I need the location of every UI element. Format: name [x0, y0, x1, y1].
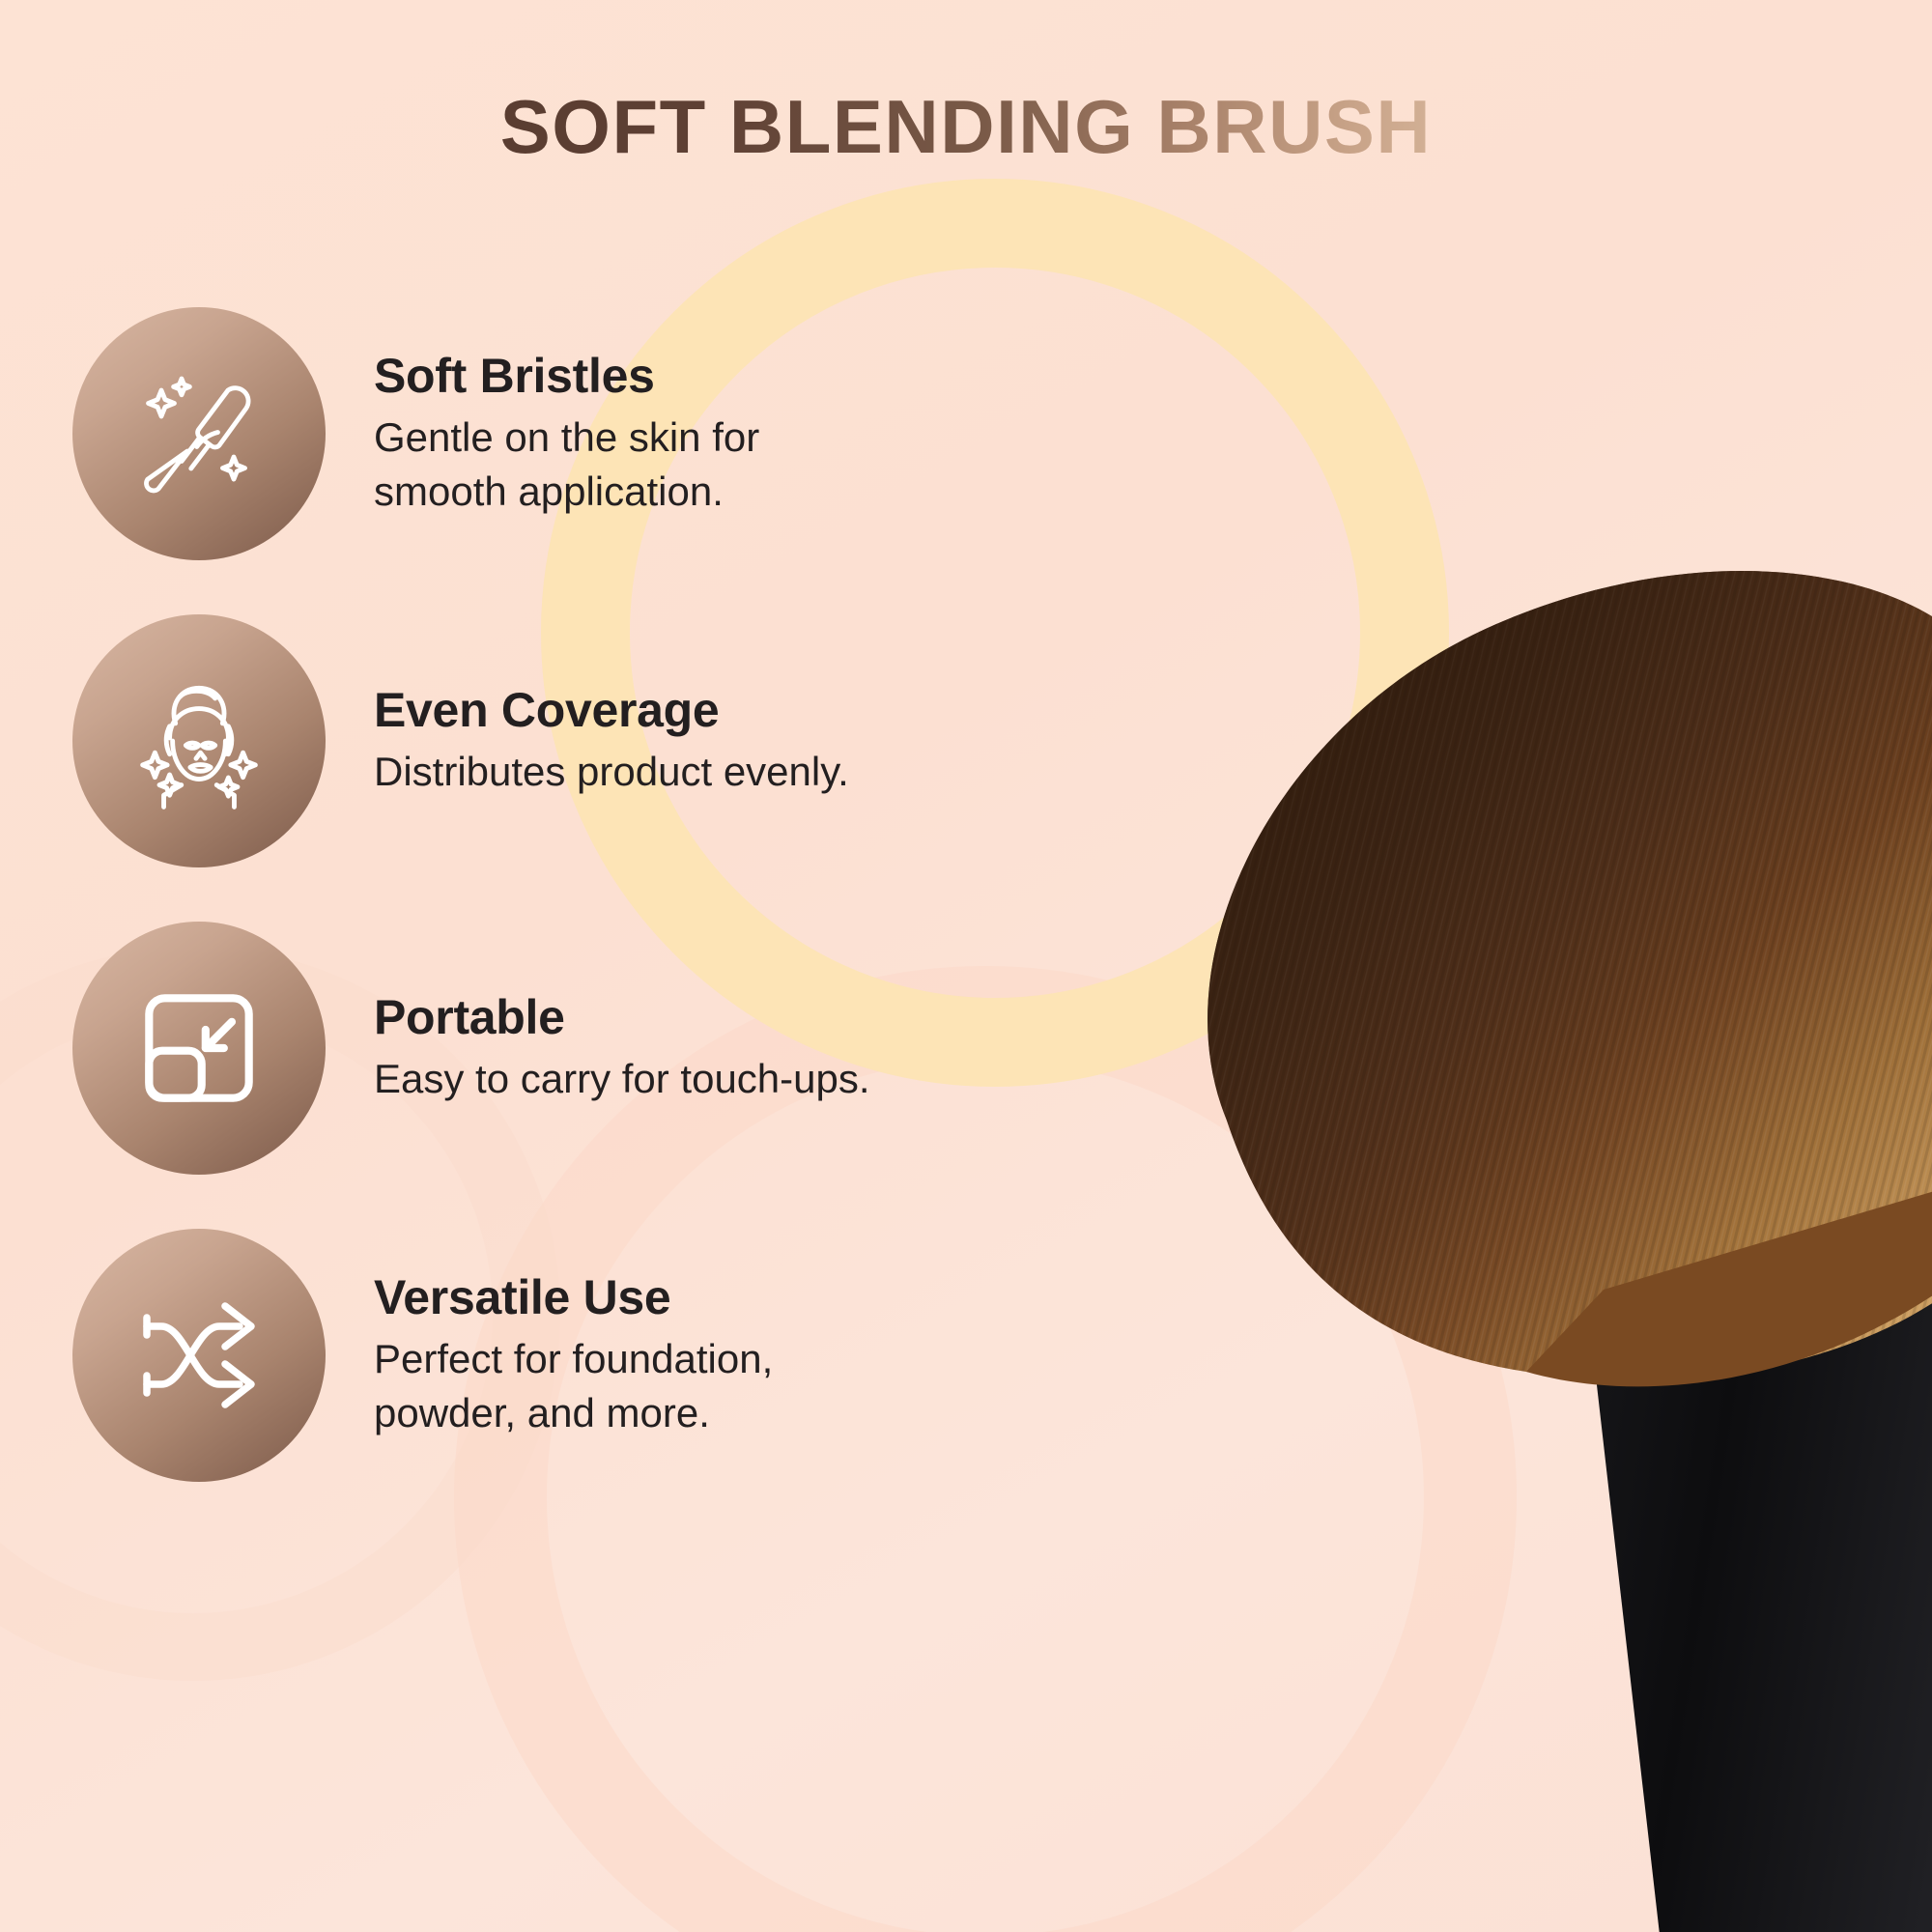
feature-text: Soft Bristles Gentle on the skin for smo…	[374, 350, 876, 518]
feature-list: Soft Bristles Gentle on the skin for smo…	[72, 280, 1038, 1509]
feature-title: Even Coverage	[374, 684, 849, 737]
icon-badge	[72, 1229, 326, 1482]
infographic-canvas: SOFT BLENDING BRUSH	[0, 0, 1932, 1932]
feature-item-versatile-use: Versatile Use Perfect for foundation, po…	[72, 1202, 1038, 1509]
feature-title: Portable	[374, 991, 870, 1044]
feature-text: Portable Easy to carry for touch-ups.	[374, 991, 870, 1105]
feature-description: Gentle on the skin for smooth applicatio…	[374, 411, 876, 518]
title-container: SOFT BLENDING BRUSH	[0, 89, 1932, 164]
feature-description: Perfect for foundation, powder, and more…	[374, 1332, 876, 1439]
icon-badge	[72, 922, 326, 1175]
compact-resize-icon	[133, 982, 265, 1114]
feature-title: Soft Bristles	[374, 350, 876, 403]
product-image-kabuki-brush	[985, 502, 1932, 1932]
feature-description: Easy to carry for touch-ups.	[374, 1052, 870, 1105]
icon-badge	[72, 307, 326, 560]
shuffle-arrows-icon	[127, 1283, 271, 1428]
icon-badge	[72, 614, 326, 867]
feature-item-portable: Portable Easy to carry for touch-ups.	[72, 895, 1038, 1202]
feature-text: Even Coverage Distributes product evenly…	[374, 684, 849, 798]
makeup-brush-sparkle-icon	[127, 361, 271, 506]
feature-text: Versatile Use Perfect for foundation, po…	[374, 1271, 876, 1439]
page-title: SOFT BLENDING BRUSH	[500, 89, 1433, 164]
face-towel-sparkle-icon	[126, 668, 272, 814]
feature-item-soft-bristles: Soft Bristles Gentle on the skin for smo…	[72, 280, 1038, 587]
feature-title: Versatile Use	[374, 1271, 876, 1324]
feature-description: Distributes product evenly.	[374, 745, 849, 798]
feature-item-even-coverage: Even Coverage Distributes product evenly…	[72, 587, 1038, 895]
